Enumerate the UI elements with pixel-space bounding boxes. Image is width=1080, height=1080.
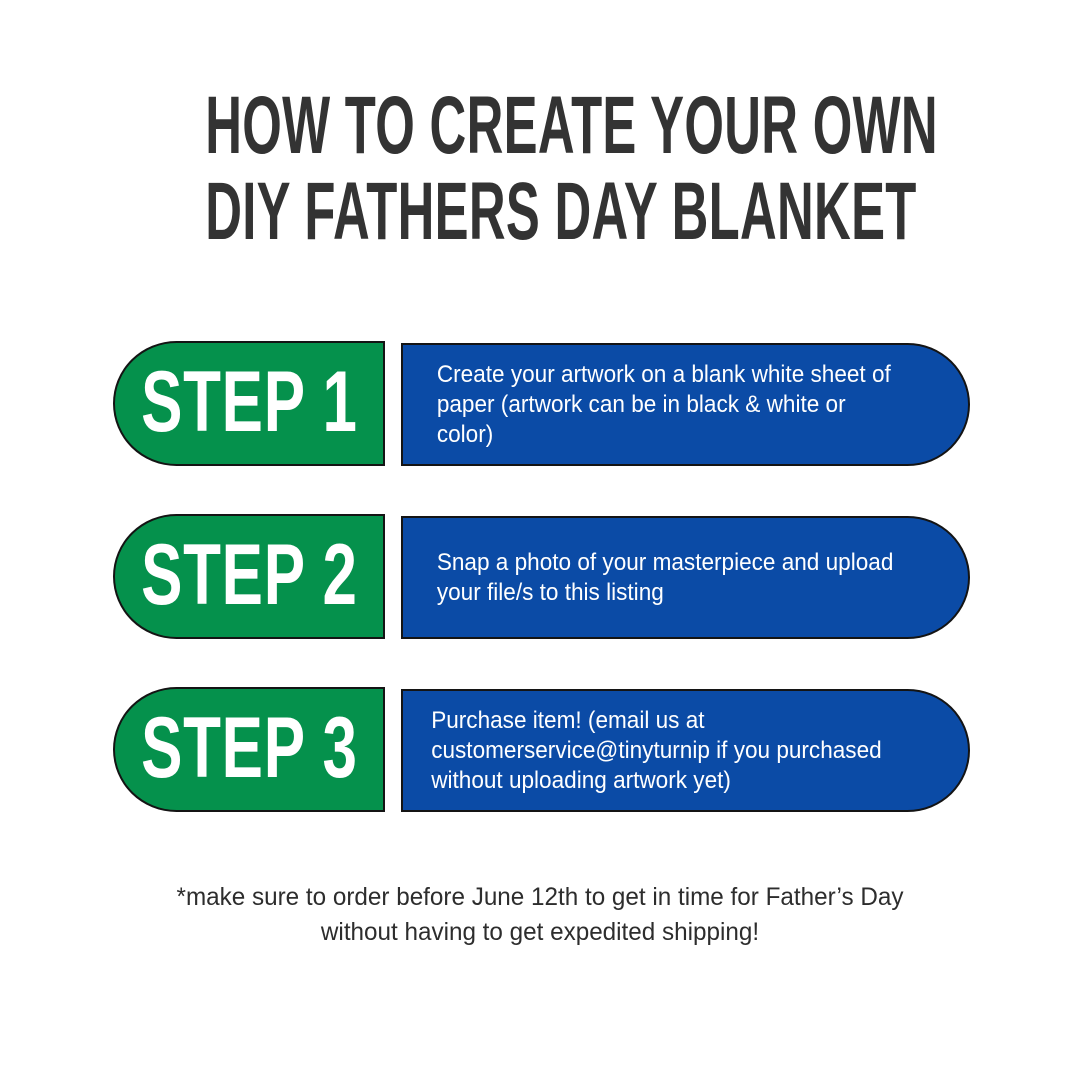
step-badge-label-2: STEP 2 — [141, 532, 358, 618]
page-title-line-2: DIY FATHERS DAY BLANKET — [205, 170, 875, 254]
step-body-text-2: Snap a photo of your masterpiece and upl… — [403, 548, 934, 608]
step-body-text-3: Purchase item! (email us at customerserv… — [403, 706, 934, 796]
footer-note: *make sure to order before June 12th to … — [0, 880, 1080, 950]
steps-list: STEP 1 Create your artwork on a blank wh… — [0, 341, 1080, 860]
step-body-text-1: Create your artwork on a blank white she… — [403, 360, 934, 450]
step-badge-2: STEP 2 — [113, 514, 385, 639]
step-badge-3: STEP 3 — [113, 687, 385, 812]
page-title: HOW TO CREATE YOUR OWN DIY FATHERS DAY B… — [0, 84, 1080, 254]
step-badge-label-3: STEP 3 — [141, 705, 358, 791]
step-row: STEP 1 Create your artwork on a blank wh… — [0, 341, 1080, 466]
footer-note-line-2: without having to get expedited shipping… — [16, 915, 1064, 950]
page-title-line-1: HOW TO CREATE YOUR OWN — [205, 84, 875, 168]
step-row: STEP 3 Purchase item! (email us at custo… — [0, 687, 1080, 812]
step-row: STEP 2 Snap a photo of your masterpiece … — [0, 514, 1080, 639]
step-badge-label-1: STEP 1 — [141, 359, 358, 445]
footer-note-line-1: *make sure to order before June 12th to … — [16, 880, 1064, 915]
step-badge-1: STEP 1 — [113, 341, 385, 466]
step-body-2: Snap a photo of your masterpiece and upl… — [401, 516, 970, 639]
infographic-canvas: HOW TO CREATE YOUR OWN DIY FATHERS DAY B… — [0, 0, 1080, 1080]
step-body-1: Create your artwork on a blank white she… — [401, 343, 970, 466]
step-body-3: Purchase item! (email us at customerserv… — [401, 689, 970, 812]
